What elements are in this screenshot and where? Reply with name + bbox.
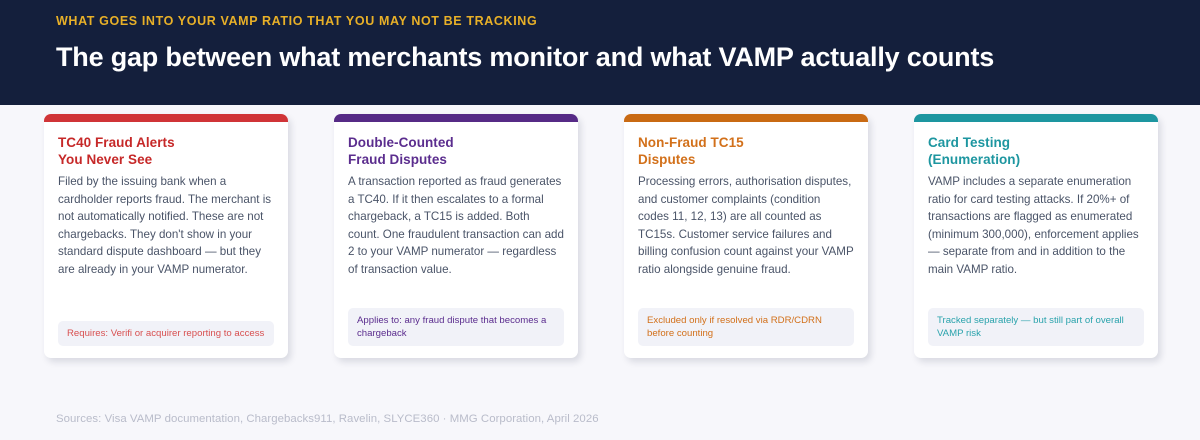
card-tc40-fraud-alerts[interactable]: TC40 Fraud Alerts You Never See Filed by… [44, 114, 288, 358]
card-badge: Requires: Verifi or acquirer reporting t… [58, 321, 274, 346]
card-body-text: VAMP includes a separate enumeration rat… [928, 173, 1144, 308]
sources-footer: Sources: Visa VAMP documentation, Charge… [56, 413, 599, 425]
card-title-line-1: Non-Fraud TC15 [638, 134, 854, 151]
card-title-line-2: (Enumeration) [928, 151, 1144, 168]
card-content: Card Testing (Enumeration) VAMP includes… [914, 122, 1158, 308]
card-title-line-2: Fraud Disputes [348, 151, 564, 168]
header-eyebrow: WHAT GOES INTO YOUR VAMP RATIO THAT YOU … [56, 13, 1200, 29]
card-title-line-1: Double-Counted [348, 134, 564, 151]
card-title-line-1: Card Testing [928, 134, 1144, 151]
card-body-text: Processing errors, authorisation dispute… [638, 173, 854, 308]
page-title: The gap between what merchants monitor a… [56, 40, 1200, 74]
card-title-line-2: Disputes [638, 151, 854, 168]
card-body-text: Filed by the issuing bank when a cardhol… [58, 173, 274, 321]
card-title: Double-Counted Fraud Disputes [348, 134, 564, 168]
card-title: Non-Fraud TC15 Disputes [638, 134, 854, 168]
card-accent-bar [44, 114, 288, 122]
card-card-testing-enumeration[interactable]: Card Testing (Enumeration) VAMP includes… [914, 114, 1158, 358]
card-title-line-2: You Never See [58, 151, 274, 168]
card-title-line-1: TC40 Fraud Alerts [58, 134, 274, 151]
card-double-counted-fraud-disputes[interactable]: Double-Counted Fraud Disputes A transact… [334, 114, 578, 358]
card-badge: Tracked separately — but still part of o… [928, 308, 1144, 346]
card-accent-bar [624, 114, 868, 122]
card-title: Card Testing (Enumeration) [928, 134, 1144, 168]
card-badge: Excluded only if resolved via RDR/CDRN b… [638, 308, 854, 346]
card-title: TC40 Fraud Alerts You Never See [58, 134, 274, 168]
card-content: Double-Counted Fraud Disputes A transact… [334, 122, 578, 308]
card-body-text: A transaction reported as fraud generate… [348, 173, 564, 308]
card-grid: TC40 Fraud Alerts You Never See Filed by… [44, 114, 1158, 358]
card-non-fraud-tc15-disputes[interactable]: Non-Fraud TC15 Disputes Processing error… [624, 114, 868, 358]
card-badge: Applies to: any fraud dispute that becom… [348, 308, 564, 346]
card-content: TC40 Fraud Alerts You Never See Filed by… [44, 122, 288, 321]
card-accent-bar [334, 114, 578, 122]
card-accent-bar [914, 114, 1158, 122]
page-header: WHAT GOES INTO YOUR VAMP RATIO THAT YOU … [0, 0, 1200, 105]
card-content: Non-Fraud TC15 Disputes Processing error… [624, 122, 868, 308]
